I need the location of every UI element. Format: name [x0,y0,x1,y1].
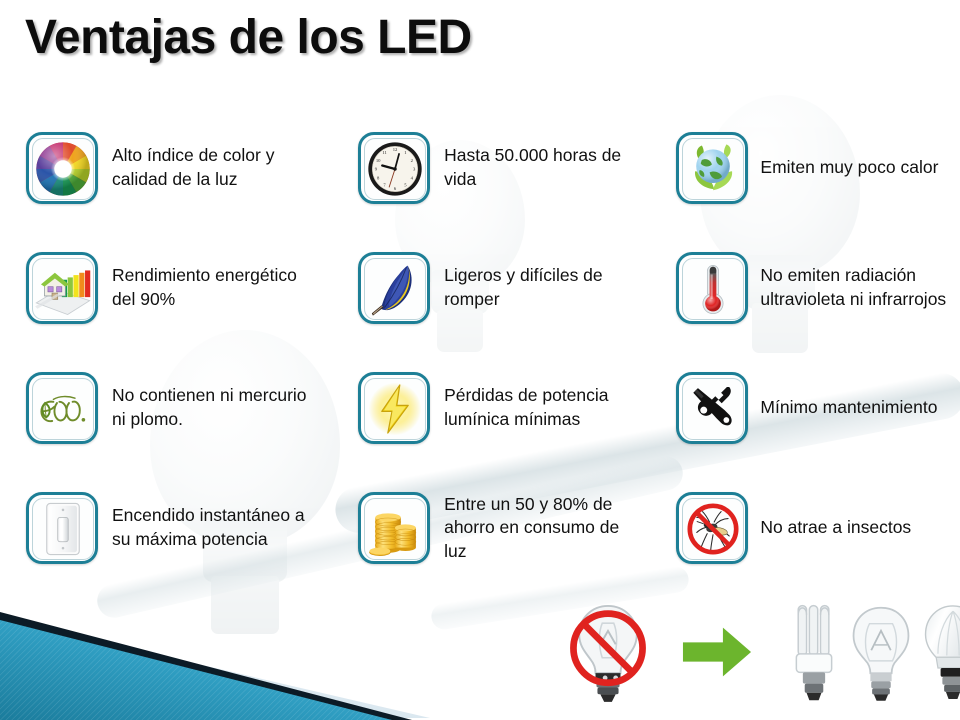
benefit-item: Mínimo mantenimiento [676,348,960,468]
wrench-screwdriver-icon [682,378,744,440]
benefits-row: Encendido instantáneo a su máxima potenc… [0,468,960,588]
benefit-label: Alto índice de color y calidad de la luz [112,144,317,191]
energy-house-icon [32,258,94,320]
benefit-item: No emiten radiación ultravioleta ni infr… [676,228,960,348]
benefit-item: Alto índice de color y calidad de la luz [0,108,350,228]
benefits-row: Rendimiento energético del 90% [0,228,960,348]
feather-quill-icon [364,258,426,320]
benefit-icon-frame [358,492,430,564]
benefit-icon-frame [676,372,748,444]
benefit-icon-frame [26,372,98,444]
benefit-label: Entre un 50 y 80% de ahorro en consumo d… [444,493,644,564]
benefit-item: No atrae a insectos [676,468,960,588]
benefit-item: Emiten muy poco calor [676,108,960,228]
benefit-item: No contienen ni mercurio ni plomo. [0,348,350,468]
light-switch-icon [32,498,94,560]
benefit-label: Hasta 50.000 horas de vida [444,144,644,191]
lightning-bolt-icon [364,378,426,440]
benefits-row: Alto índice de color y calidad de la luz… [0,108,960,228]
svg-text:12: 12 [393,148,398,153]
benefit-label: No contienen ni mercurio ni plomo. [112,384,317,431]
clock-icon: 12 1 2 3 4 5 6 7 8 9 10 [364,138,426,200]
benefit-label: Pérdidas de potencia lumínica mínimas [444,384,644,431]
benefit-item: Ligeros y difíciles de romper [350,228,676,348]
page-title: Ventajas de los LED [25,10,472,65]
benefit-label: Encendido instantáneo a su máxima potenc… [112,504,317,551]
color-wheel-icon [32,138,94,200]
eco-handwriting-icon [32,378,94,440]
slide: Ventajas de los LED [0,0,960,720]
benefit-label: No emiten radiación ultravioleta ni infr… [760,264,950,311]
benefit-label: Emiten muy poco calor [760,156,938,180]
benefit-icon-frame [676,132,748,204]
cfl-bulb-icon [788,599,840,710]
benefit-label: Rendimiento energético del 90% [112,264,317,311]
benefit-icon-frame [26,492,98,564]
bulb-comparison-strip [560,598,950,710]
benefit-icon-frame [26,132,98,204]
svg-text:11: 11 [382,151,387,156]
globe-leaves-icon [682,138,744,200]
led-bulb-icon [922,599,960,710]
halogen-bulb-icon [850,599,912,710]
gold-coins-icon [364,498,426,560]
benefit-item: Rendimiento energético del 90% [0,228,350,348]
green-arrow-right-icon [680,623,754,686]
banned-incandescent-bulb-icon [560,598,656,711]
benefits-row: No contienen ni mercurio ni plomo. [0,348,960,468]
benefit-icon-frame: 12 1 2 3 4 5 6 7 8 9 10 [358,132,430,204]
benefit-icon-frame [26,252,98,324]
benefits-grid: Alto índice de color y calidad de la luz… [0,108,960,588]
thermometer-icon [682,258,744,320]
benefit-label: No atrae a insectos [760,516,911,540]
benefit-icon-frame [676,252,748,324]
benefit-icon-frame [358,252,430,324]
benefit-item: 12 1 2 3 4 5 6 7 8 9 10 [350,108,676,228]
svg-text:10: 10 [376,159,381,164]
benefit-item: Entre un 50 y 80% de ahorro en consumo d… [350,468,676,588]
benefit-item: Pérdidas de potencia lumínica mínimas [350,348,676,468]
benefit-label: Mínimo mantenimiento [760,396,937,420]
no-mosquito-icon [682,498,744,560]
benefit-item: Encendido instantáneo a su máxima potenc… [0,468,350,588]
benefit-icon-frame [676,492,748,564]
benefit-label: Ligeros y difíciles de romper [444,264,644,311]
corner-decoration [0,590,430,720]
benefit-icon-frame [358,372,430,444]
